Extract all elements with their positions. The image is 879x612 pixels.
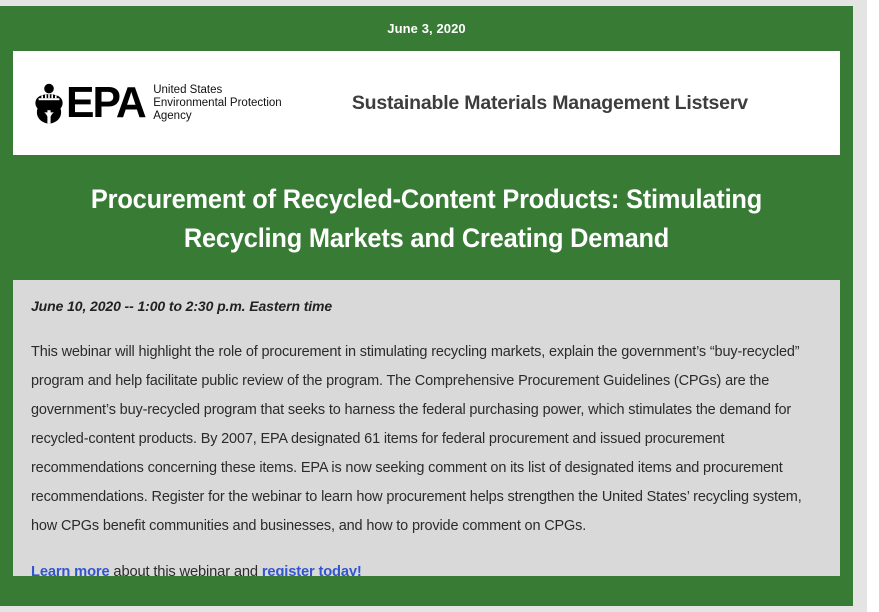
epa-seal-icon xyxy=(29,82,69,124)
email-date: June 3, 2020 xyxy=(387,21,466,36)
webinar-description: This webinar will highlight the role of … xyxy=(31,338,810,541)
epa-logo[interactable]: EPA United States Environmental Protecti… xyxy=(13,82,282,124)
agency-line-2: Environmental Protection xyxy=(153,97,281,109)
email-date-bar: June 3, 2020 xyxy=(0,6,853,51)
webinar-details-card: June 10, 2020 -- 1:00 to 2:30 p.m. Easte… xyxy=(13,280,840,576)
masthead: EPA United States Environmental Protecti… xyxy=(13,51,840,155)
epa-agency-name: United States Environmental Protection A… xyxy=(153,84,281,123)
webinar-headline: Procurement of Recycled-Content Products… xyxy=(58,155,796,280)
cta-exclamation: ! xyxy=(357,564,362,576)
agency-line-1: United States xyxy=(153,84,222,96)
register-today-link[interactable]: register today xyxy=(262,564,357,576)
cta-middle-text: about this webinar and xyxy=(110,564,262,576)
email-viewer: June 3, 2020 xyxy=(0,0,879,612)
listserv-title: Sustainable Materials Management Listser… xyxy=(282,92,840,115)
agency-line-3: Agency xyxy=(153,110,191,122)
epa-wordmark: EPA xyxy=(66,83,145,123)
learn-more-link[interactable]: Learn more xyxy=(31,564,110,576)
webinar-cta-line: Learn more about this webinar and regist… xyxy=(31,561,822,576)
email-body: June 3, 2020 xyxy=(0,6,853,606)
webinar-datetime: June 10, 2020 -- 1:00 to 2:30 p.m. Easte… xyxy=(31,298,822,314)
